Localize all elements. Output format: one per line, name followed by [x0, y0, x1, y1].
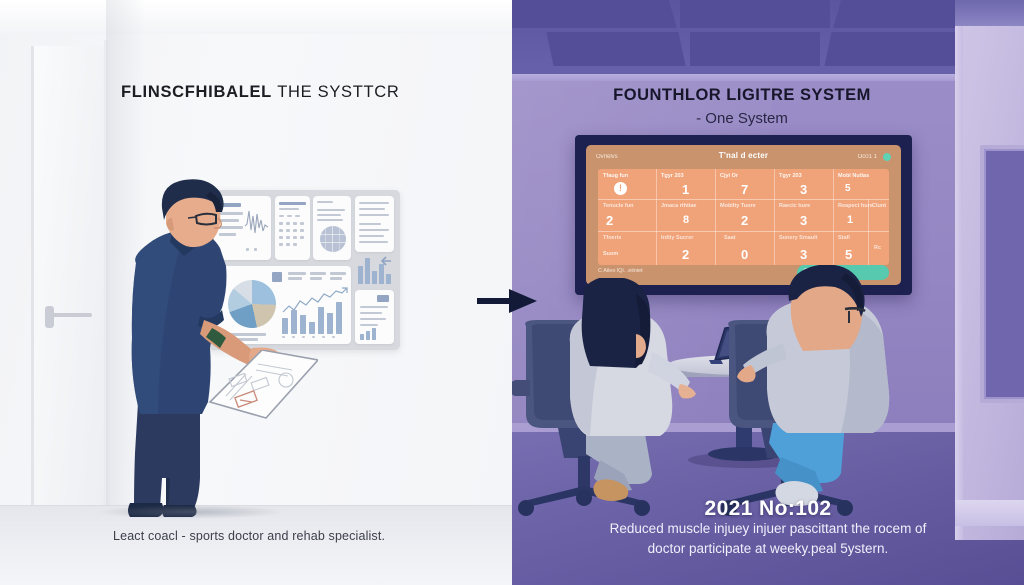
ceiling-tile: [824, 32, 963, 66]
left-title-regular: THE SYSTTCR: [277, 83, 399, 101]
right-caption-line-2: doctor participate at weeky.peal 5ystern…: [512, 541, 1024, 556]
table-col-divider: [774, 169, 775, 265]
checklist-card: [355, 290, 394, 344]
table-value: 1: [847, 214, 853, 226]
standing-presenter: [100, 178, 285, 518]
table-col-divider: [656, 169, 657, 265]
table-value: 7: [741, 182, 748, 197]
table-header-cell: Tgyr 203: [779, 173, 802, 179]
status-indicator-dot: [883, 153, 891, 161]
dashboard-table: Tfaug fun Tgyr 203 Cjyi Or Tgyr 203 Mobl…: [598, 169, 889, 265]
table-row-label: Suom: [603, 251, 618, 257]
table-value: 0: [741, 247, 748, 262]
table-subheader-cell: Saat: [724, 235, 736, 241]
presenter-floor-shadow: [96, 505, 286, 519]
table-header-cell: Mobl Nutlas: [838, 173, 869, 179]
table-header-cell: Tfaug fun: [603, 173, 628, 179]
globe-card: [313, 196, 351, 260]
table-subheader-cell: Rc: [874, 245, 881, 251]
reference-number: 2021 No:102: [512, 497, 1024, 521]
left-panel: FLINSCFHIBALEL THE SYSTTCR: [0, 0, 512, 585]
left-panel-title: FLINSCFHIBALEL THE SYSTTCR: [121, 83, 400, 102]
held-document: [200, 350, 318, 422]
right-panel-subtitle: - One System: [512, 110, 972, 127]
table-subheader-cell: Tenucle fun: [603, 203, 633, 209]
small-bars-group: [358, 258, 394, 284]
ceiling-tile: [680, 0, 830, 28]
table-subheader-cell: Raecic bure: [779, 203, 810, 209]
table-value: 1: [682, 182, 689, 197]
bar-chart: [282, 302, 348, 334]
alert-badge-icon: !: [614, 182, 627, 195]
table-subheader-cell: Irdtly Sucrer: [661, 235, 693, 241]
table-col-divider: [715, 169, 716, 265]
door-handle-plate: [45, 306, 54, 328]
table-value: 2: [606, 213, 613, 228]
left-arrow-icon: [378, 256, 392, 266]
seated-person-right: [737, 265, 912, 510]
dashboard-title: T'nal d ecter: [586, 151, 901, 160]
dashboard-screen[interactable]: Ovrlelvs T'nal d ecter Oc01 1: [586, 145, 901, 285]
side-window: [980, 145, 1024, 403]
table-subheader-cell: Clunt: [872, 203, 886, 209]
ceiling-tile: [512, 0, 677, 28]
table-subheader-cell: Stafl: [838, 235, 850, 241]
table-value: 2: [741, 213, 748, 228]
right-caption-line-1: Reduced muscle injuey injuer pascittant …: [512, 521, 1024, 536]
table-value: 3: [800, 213, 807, 228]
ceiling-lip: [512, 74, 1024, 81]
dashboard-topbar: Ovrlelvs T'nal d ecter Oc01 1: [586, 145, 901, 169]
text-card: [355, 196, 394, 252]
transition-arrow-icon: [477, 288, 539, 314]
table-subheader-cell: Sunery Smault: [779, 235, 818, 241]
side-wall-top-trim: [955, 0, 1024, 26]
right-panel: FOUNTHLOR LIGITRE SYSTEM - One System Ov…: [512, 0, 1024, 585]
table-value: 8: [683, 214, 689, 226]
table-value: 3: [800, 182, 807, 197]
table-row-divider: [598, 231, 889, 232]
table-subheader-cell: Jmaca rthtiae: [661, 203, 696, 209]
table-value: 5: [845, 183, 851, 194]
dashboard-footer-note: C Aileo lQi. .eiiniet: [598, 268, 643, 274]
table-subheader-cell: Mobilty Tuore: [720, 203, 756, 209]
table-value: 3: [800, 247, 807, 262]
right-panel-title: FOUNTHLOR LIGITRE SYSTEM: [512, 86, 972, 105]
table-header-cell: Tgyr 203: [661, 173, 684, 179]
table-value: 5: [845, 247, 852, 262]
door-handle-icon: [52, 313, 92, 317]
dashboard-status-label: Oc01 1: [858, 154, 877, 160]
table-col-divider: [833, 169, 834, 265]
ceiling-tile: [546, 32, 685, 66]
ceiling-tile: [690, 32, 820, 66]
seated-person-left: [540, 278, 700, 503]
table-header-cell: Cjyi Or: [720, 173, 738, 179]
table-subheader-cell: Reapect hure: [838, 203, 873, 209]
left-ceiling: [0, 0, 512, 34]
table-value: 2: [682, 247, 689, 262]
left-title-bold: FLINSCFHIBALEL: [121, 83, 272, 101]
left-caption: Leact coacl - sports doctor and rehab sp…: [113, 529, 385, 543]
table-row-divider: [598, 199, 889, 200]
door: [31, 46, 108, 508]
table-subheader-cell: Tfoeris: [603, 235, 621, 241]
illustration-canvas: FLINSCFHIBALEL THE SYSTTCR: [0, 0, 1024, 585]
globe-icon: [320, 226, 346, 252]
